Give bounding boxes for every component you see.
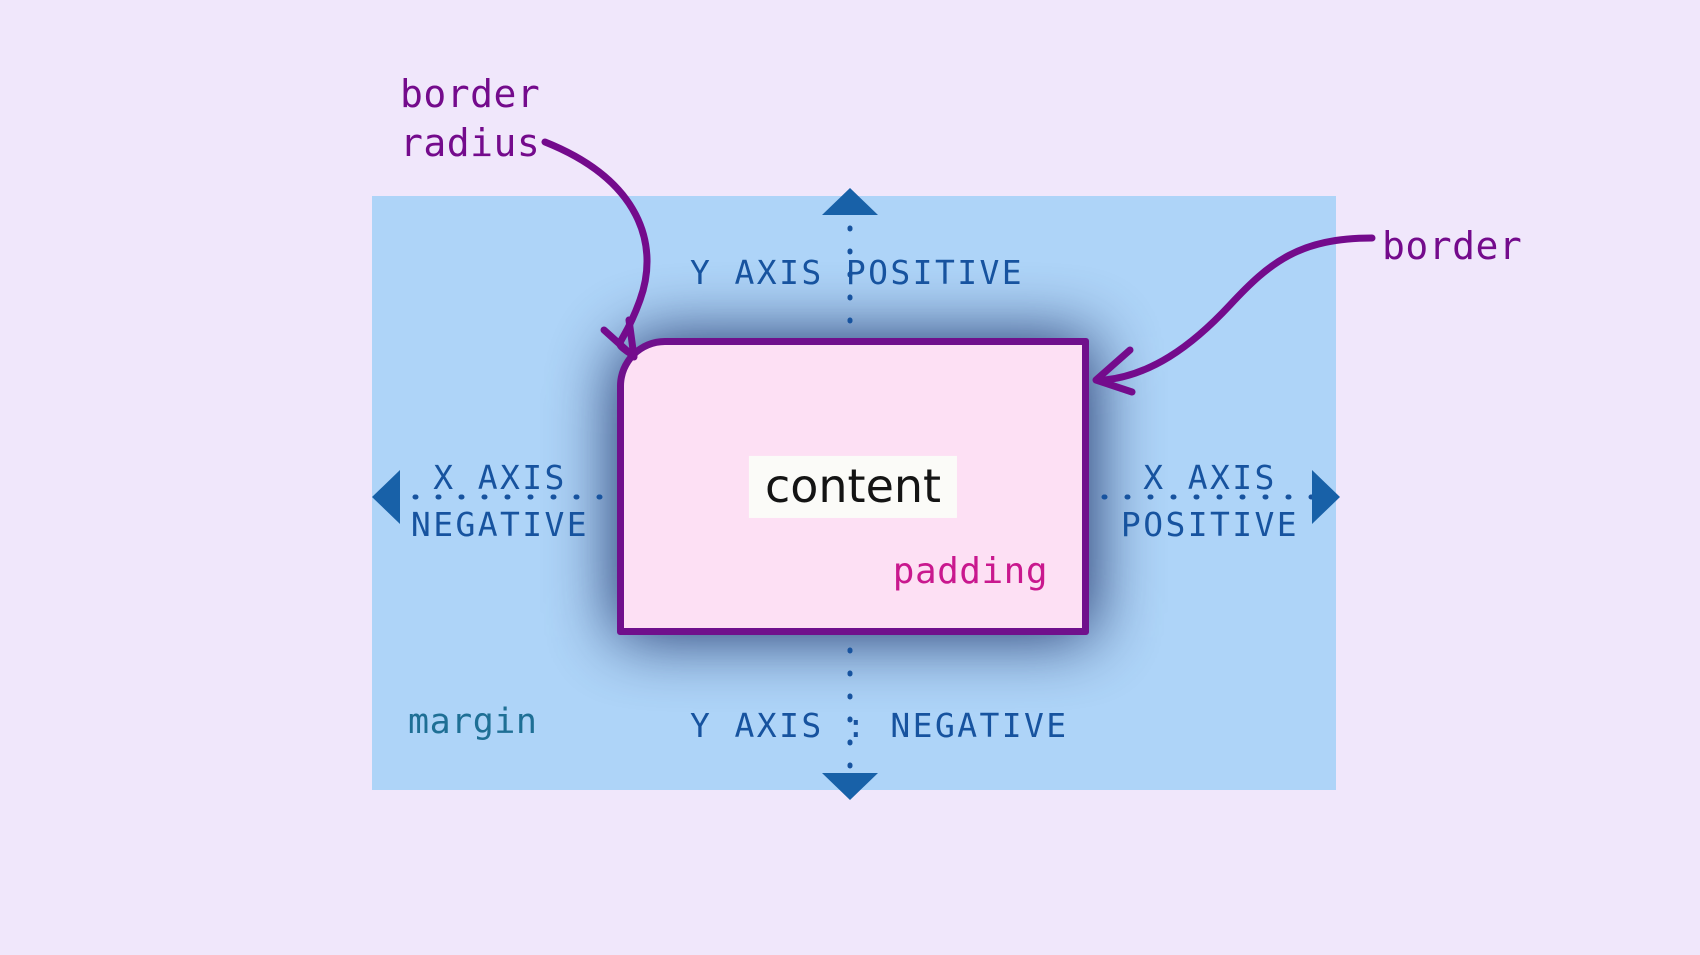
content-label: content [749,455,957,517]
axis-label-y-negative: Y AXIS : NEGATIVE [690,706,1069,745]
diagram-canvas: margin content padding Y AXIS POSITIVE Y… [0,0,1700,955]
content-box: content padding [617,338,1089,635]
axis-label-y-positive: Y AXIS POSITIVE [690,253,1024,292]
axis-label-x-negative-line1: X AXIS [405,455,595,502]
callout-border-radius-label: border radius [400,70,540,169]
axis-label-x-negative-line2: NEGATIVE [405,502,595,549]
axis-label-x-negative: X AXIS NEGATIVE [405,455,595,549]
margin-label: margin [408,702,537,742]
axis-label-x-positive: X AXIS POSITIVE [1115,455,1305,549]
axis-label-x-positive-line1: X AXIS [1115,455,1305,502]
axis-label-x-positive-line2: POSITIVE [1115,502,1305,549]
callout-border-label: border [1382,222,1522,271]
padding-label: padding [893,551,1048,592]
